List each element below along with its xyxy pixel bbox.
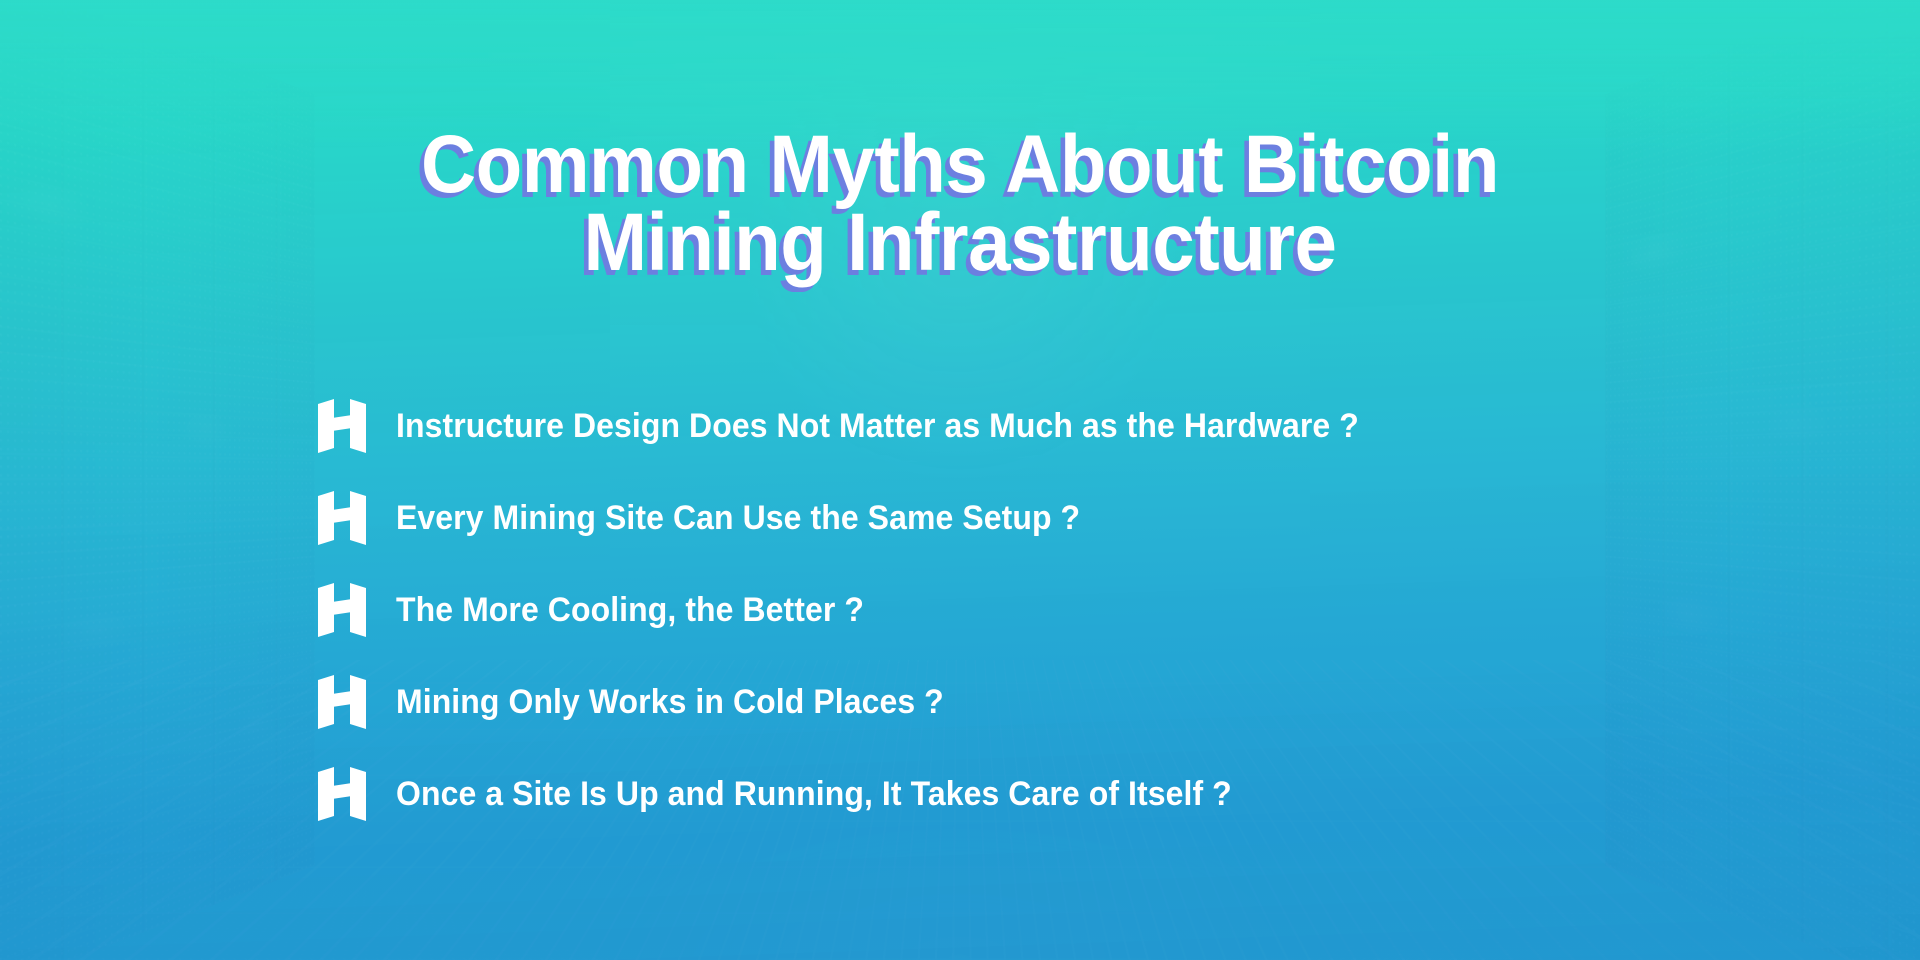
slide-canvas: Common Myths About Bitcoin Mining Infras… [0, 0, 1920, 960]
h-logo-icon [316, 582, 368, 638]
h-logo-icon [316, 766, 368, 822]
list-item: Once a Site Is Up and Running, It Takes … [316, 748, 1816, 840]
list-item: Mining Only Works in Cold Places ? [316, 656, 1816, 748]
list-item-label: Every Mining Site Can Use the Same Setup… [396, 499, 1080, 538]
slide-content: Common Myths About Bitcoin Mining Infras… [0, 0, 1920, 960]
list-item-label: Mining Only Works in Cold Places ? [396, 683, 944, 722]
list-item: Instructure Design Does Not Matter as Mu… [316, 380, 1816, 472]
h-logo-icon [316, 674, 368, 730]
slide-title: Common Myths About Bitcoin Mining Infras… [67, 126, 1853, 282]
list-item-label: Once a Site Is Up and Running, It Takes … [396, 775, 1232, 814]
h-logo-icon [316, 398, 368, 454]
h-logo-icon [316, 490, 368, 546]
list-item-label: Instructure Design Does Not Matter as Mu… [396, 407, 1359, 446]
myth-list: Instructure Design Does Not Matter as Mu… [316, 380, 1816, 840]
list-item: The More Cooling, the Better ? [316, 564, 1816, 656]
list-item: Every Mining Site Can Use the Same Setup… [316, 472, 1816, 564]
list-item-label: The More Cooling, the Better ? [396, 591, 864, 630]
